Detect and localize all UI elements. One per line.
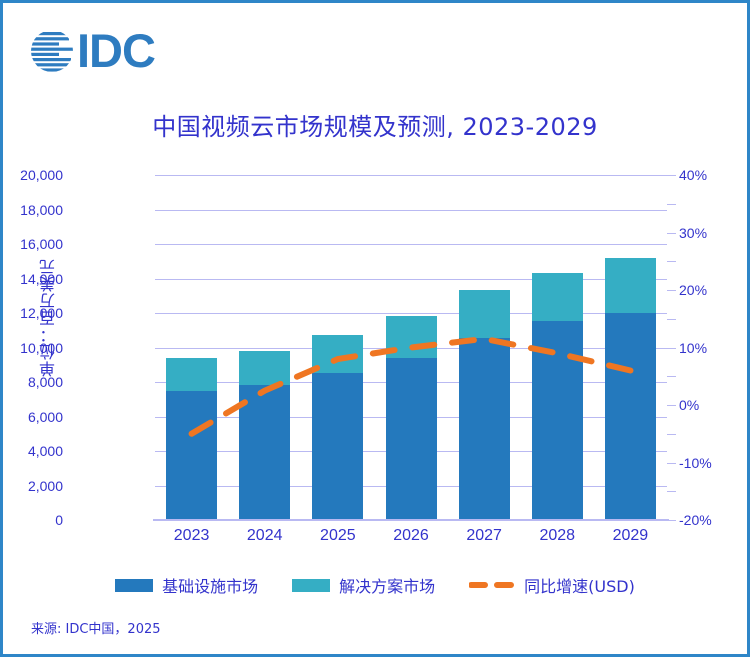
legend-swatch-solution bbox=[292, 579, 330, 592]
legend-item[interactable]: 基础设施市场 bbox=[115, 573, 258, 597]
chart-legend: 基础设施市场解决方案市场同比增速(USD) bbox=[3, 573, 747, 597]
y-axis-right-tick bbox=[667, 405, 676, 406]
y-axis-left-tick-label: 8,000 bbox=[0, 374, 63, 390]
y-axis-right-tick bbox=[667, 204, 676, 205]
y-axis-right-tick-label: 30% bbox=[679, 225, 749, 241]
y-axis-right-tick-label: -20% bbox=[679, 512, 749, 528]
idc-wordmark: IDC bbox=[77, 28, 155, 74]
y-axis-right-tick bbox=[667, 175, 676, 176]
y-axis-right-tick bbox=[667, 376, 676, 377]
y-axis-right-tick bbox=[667, 319, 676, 320]
y-axis-right-tick bbox=[667, 233, 676, 234]
y-axis-left-tick-label: 16,000 bbox=[0, 236, 63, 252]
y-axis-left-tick-label: 10,000 bbox=[0, 340, 63, 356]
x-axis-tick-label: 2029 bbox=[594, 527, 667, 545]
x-axis-tick-label: 2027 bbox=[448, 527, 521, 545]
y-axis-left-tick-label: 0 bbox=[0, 512, 63, 528]
legend-item[interactable]: 解决方案市场 bbox=[292, 573, 435, 597]
y-axis-left-tick-label: 14,000 bbox=[0, 271, 63, 287]
x-axis-baseline bbox=[153, 519, 669, 521]
y-axis-right-tick bbox=[667, 261, 676, 262]
y-axis-right-tick bbox=[667, 463, 676, 464]
x-axis-tick-label: 2023 bbox=[155, 527, 228, 545]
plot-area: 02,0004,0006,0008,00010,00012,00014,0001… bbox=[155, 175, 667, 520]
idc-logo: IDC bbox=[29, 25, 155, 77]
x-axis-tick-label: 2024 bbox=[228, 527, 301, 545]
growth-line-layer bbox=[155, 175, 667, 520]
y-axis-right-tick-label: -10% bbox=[679, 455, 749, 471]
legend-item-label: 基础设施市场 bbox=[162, 573, 258, 597]
y-axis-left-tick-label: 4,000 bbox=[0, 443, 63, 459]
source-note: 来源: IDC中国，2025 bbox=[31, 618, 161, 637]
y-axis-left-tick-label: 6,000 bbox=[0, 409, 63, 425]
y-axis-left-tick-label: 20,000 bbox=[0, 167, 63, 183]
x-axis-tick-label: 2028 bbox=[521, 527, 594, 545]
x-axis-tick-label: 2025 bbox=[301, 527, 374, 545]
y-axis-right-tick bbox=[667, 348, 676, 349]
legend-dash-growth bbox=[469, 581, 515, 589]
legend-swatch-infrastructure bbox=[115, 579, 153, 592]
y-axis-right-tick-label: 20% bbox=[679, 282, 749, 298]
y-axis-left-tick-label: 18,000 bbox=[0, 202, 63, 218]
growth-rate-line bbox=[192, 339, 631, 434]
y-axis-left-tick-label: 12,000 bbox=[0, 305, 63, 321]
legend-item[interactable]: 同比增速(USD) bbox=[469, 573, 635, 597]
y-axis-right-tick-label: 0% bbox=[679, 397, 749, 413]
legend-item-label: 解决方案市场 bbox=[339, 573, 435, 597]
y-axis-right-tick bbox=[667, 434, 676, 435]
y-axis-left-tick-label: 2,000 bbox=[0, 478, 63, 494]
y-axis-right-tick bbox=[667, 491, 676, 492]
idc-globe-icon bbox=[29, 28, 75, 74]
y-axis-right-tick-label: 10% bbox=[679, 340, 749, 356]
chart-page: IDC 中国视频云市场规模及预测, 2023-2029 单位：百万美元 02,0… bbox=[0, 0, 750, 657]
legend-item-label: 同比增速(USD) bbox=[524, 573, 635, 597]
y-axis-right-tick bbox=[667, 290, 676, 291]
x-axis-tick-label: 2026 bbox=[374, 527, 447, 545]
chart-title: 中国视频云市场规模及预测, 2023-2029 bbox=[3, 107, 747, 142]
y-axis-right-tick-label: 40% bbox=[679, 167, 749, 183]
